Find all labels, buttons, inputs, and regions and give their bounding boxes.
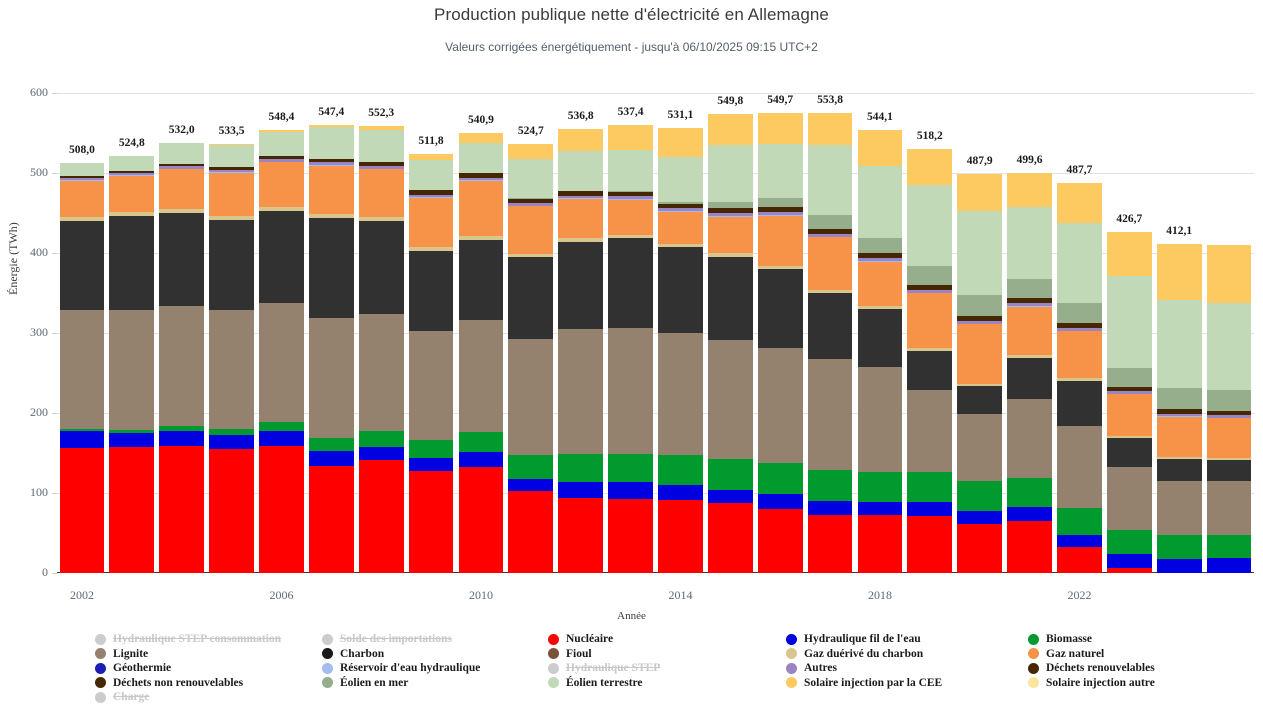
bar-segment[interactable] <box>1207 481 1252 535</box>
legend-item[interactable]: Charge <box>95 690 281 705</box>
bar-segment[interactable] <box>957 524 1002 573</box>
bar-total-label: 533,5 <box>209 125 254 137</box>
bar-segment[interactable] <box>1157 417 1202 457</box>
bar-segment[interactable] <box>558 129 603 150</box>
legend-column: Hydraulique STEP consommationLigniteGéot… <box>95 632 281 705</box>
bar-segment[interactable] <box>1107 394 1152 436</box>
y-axis-tickmark <box>52 333 57 334</box>
bar-segment[interactable] <box>758 144 803 198</box>
bar-segment[interactable] <box>359 447 404 461</box>
bar-segment[interactable] <box>109 433 154 447</box>
legend-item[interactable]: Hydraulique STEP consommation <box>95 632 281 647</box>
bar-segment[interactable] <box>1107 276 1152 368</box>
bar-segment[interactable] <box>808 237 853 290</box>
bar-segment[interactable] <box>758 216 803 266</box>
legend-item-label: Nucléaire <box>566 633 613 645</box>
bar-segment[interactable] <box>608 238 653 328</box>
bar-segment[interactable] <box>508 479 553 491</box>
legend-color-swatch-icon <box>786 663 797 674</box>
bar-segment[interactable] <box>259 446 304 573</box>
bar-segment[interactable] <box>708 145 753 202</box>
bar-2014[interactable] <box>658 128 703 573</box>
bar-segment[interactable] <box>1007 307 1052 356</box>
bar-segment[interactable] <box>359 130 404 162</box>
bar-segment[interactable] <box>359 460 404 573</box>
bar-segment[interactable] <box>1157 559 1202 573</box>
bar-segment[interactable] <box>1207 558 1252 573</box>
bar-segment[interactable] <box>957 414 1002 481</box>
legend-color-swatch-icon <box>786 648 797 659</box>
bar-segment[interactable] <box>259 211 304 303</box>
bar-segment[interactable] <box>558 199 603 238</box>
bar-2003[interactable] <box>109 156 154 573</box>
bar-segment[interactable] <box>60 448 105 573</box>
y-axis-tick-label: 300 <box>0 325 48 340</box>
legend-item[interactable]: Éolien en mer <box>322 676 480 691</box>
bar-segment[interactable] <box>758 509 803 573</box>
x-axis-tick-label: 2014 <box>650 588 710 603</box>
bar-segment[interactable] <box>1007 399 1052 478</box>
bar-segment[interactable] <box>409 458 454 471</box>
bar-segment[interactable] <box>1057 381 1102 425</box>
bar-segment[interactable] <box>1157 388 1202 409</box>
bar-segment[interactable] <box>159 169 204 209</box>
bar-segment[interactable] <box>858 515 903 573</box>
bar-segment[interactable] <box>359 169 404 217</box>
bar-segment[interactable] <box>808 145 853 215</box>
y-axis-tickmark <box>52 253 57 254</box>
bar-segment[interactable] <box>957 211 1002 295</box>
bar-segment[interactable] <box>708 340 753 459</box>
bar-segment[interactable] <box>459 181 504 236</box>
bar-segment[interactable] <box>259 303 304 422</box>
legend-column: Hydraulique fil de l'eauGaz duérivé du c… <box>786 632 942 690</box>
legend-color-swatch-icon <box>322 663 333 674</box>
bar-segment[interactable] <box>608 200 653 235</box>
bar-segment[interactable] <box>658 212 703 244</box>
legend-color-swatch-icon <box>786 677 797 688</box>
bar-segment[interactable] <box>858 502 903 515</box>
bar-segment[interactable] <box>1107 530 1152 554</box>
legend-item-label: Hydraulique STEP <box>566 662 660 674</box>
bar-segment[interactable] <box>259 422 304 432</box>
bar-segment[interactable] <box>109 447 154 573</box>
legend-item[interactable]: Autres <box>786 661 942 676</box>
bar-segment[interactable] <box>459 452 504 467</box>
bar-segment[interactable] <box>957 324 1002 383</box>
legend-item-label: Géothermie <box>113 662 171 674</box>
legend-item[interactable]: Solde des importations <box>322 632 480 647</box>
legend-color-swatch-icon <box>322 677 333 688</box>
bar-segment[interactable] <box>1007 478 1052 507</box>
bar-segment[interactable] <box>957 481 1002 511</box>
bar-segment[interactable] <box>60 221 105 311</box>
legend-item-label: Solde des importations <box>340 633 452 645</box>
chart-container: Production publique nette d'électricité … <box>0 0 1263 706</box>
bar-2016[interactable] <box>758 113 803 573</box>
legend-color-swatch-icon <box>322 634 333 645</box>
bar-segment[interactable] <box>459 320 504 432</box>
bar-segment[interactable] <box>309 451 354 467</box>
bar-segment[interactable] <box>508 491 553 573</box>
bar-segment[interactable] <box>608 150 653 191</box>
bar-segment[interactable] <box>1057 547 1102 573</box>
bar-segment[interactable] <box>858 309 903 367</box>
legend-item-label: Éolien terrestre <box>566 677 643 689</box>
bar-segment[interactable] <box>508 144 553 159</box>
legend-item-label: Autres <box>804 662 837 674</box>
legend-item[interactable]: Réservoir d'eau hydraulique <box>322 661 480 676</box>
bar-segment[interactable] <box>808 293 853 359</box>
y-axis-tick-label: 600 <box>0 85 48 100</box>
legend-item[interactable]: Lignite <box>95 647 281 662</box>
bar-segment[interactable] <box>409 331 454 439</box>
bar-segment[interactable] <box>1007 358 1052 399</box>
bar-total-label: 548,4 <box>259 111 304 123</box>
bar-segment[interactable] <box>109 156 154 171</box>
legend-item-label: Hydraulique fil de l'eau <box>804 633 921 645</box>
bar-segment[interactable] <box>1157 535 1202 559</box>
bar-segment[interactable] <box>758 198 803 208</box>
bar-segment[interactable] <box>907 516 952 573</box>
bar-total-label: 553,8 <box>808 94 853 106</box>
bar-segment[interactable] <box>209 145 254 167</box>
bar-2015[interactable] <box>708 114 753 573</box>
x-axis-tick-label: 2006 <box>251 588 311 603</box>
bar-segment[interactable] <box>209 449 254 573</box>
bar-segment[interactable] <box>1107 554 1152 567</box>
bar-segment[interactable] <box>259 431 304 446</box>
bar-segment[interactable] <box>808 470 853 501</box>
bar-segment[interactable] <box>459 240 504 320</box>
legend-color-swatch-icon <box>548 663 559 674</box>
bar-segment[interactable] <box>758 494 803 509</box>
bar-segment[interactable] <box>907 472 952 502</box>
bar-segment[interactable] <box>309 166 354 215</box>
bar-segment[interactable] <box>409 440 454 458</box>
legend-item[interactable]: Déchets non renouvelables <box>95 676 281 691</box>
bar-2008[interactable] <box>359 126 404 573</box>
y-axis-tick-label: 400 <box>0 245 48 260</box>
bar-segment[interactable] <box>1007 173 1052 207</box>
bar-segment[interactable] <box>1107 467 1152 530</box>
legend-color-swatch-icon <box>1028 663 1039 674</box>
bar-segment[interactable] <box>60 163 105 176</box>
bar-total-label: 518,2 <box>907 130 952 142</box>
bar-segment[interactable] <box>708 114 753 145</box>
bar-segment[interactable] <box>658 247 703 333</box>
bar-segment[interactable] <box>858 472 903 502</box>
legend-color-swatch-icon <box>1028 634 1039 645</box>
bar-segment[interactable] <box>1207 460 1252 482</box>
bar-segment[interactable] <box>309 218 354 317</box>
bar-segment[interactable] <box>957 386 1002 414</box>
bar-total-label: 549,8 <box>708 95 753 107</box>
bar-segment[interactable] <box>209 220 254 310</box>
bar-segment[interactable] <box>758 348 803 463</box>
legend-column: NucléaireFioulHydraulique STEPÉolien ter… <box>548 632 660 690</box>
bar-2006[interactable] <box>259 130 304 573</box>
x-axis-tick-label: 2002 <box>52 588 112 603</box>
bar-segment[interactable] <box>658 500 703 573</box>
bar-segment[interactable] <box>359 314 404 431</box>
bar-2012[interactable] <box>558 129 603 573</box>
bar-segment[interactable] <box>1207 418 1252 457</box>
bar-total-label: 487,9 <box>957 155 1002 167</box>
bar-2020[interactable] <box>957 174 1002 573</box>
bar-segment[interactable] <box>459 432 504 452</box>
legend-color-swatch-icon <box>322 648 333 659</box>
bar-segment[interactable] <box>159 143 204 163</box>
bar-segment[interactable] <box>259 132 304 156</box>
legend-color-swatch-icon <box>1028 648 1039 659</box>
bar-segment[interactable] <box>60 431 105 448</box>
bar-segment[interactable] <box>758 113 803 143</box>
bar-segment[interactable] <box>608 482 653 499</box>
legend-color-swatch-icon <box>95 692 106 703</box>
legend-item[interactable]: Nucléaire <box>548 632 660 647</box>
bar-segment[interactable] <box>708 459 753 490</box>
bar-segment[interactable] <box>508 339 553 455</box>
legend-color-swatch-icon <box>95 634 106 645</box>
legend-item[interactable]: Solaire injection autre <box>1028 676 1155 691</box>
bar-segment[interactable] <box>808 515 853 573</box>
bar-segment[interactable] <box>1207 303 1252 390</box>
bar-segment[interactable] <box>409 251 454 331</box>
bar-2017[interactable] <box>808 113 853 573</box>
bar-segment[interactable] <box>1007 507 1052 521</box>
bar-segment[interactable] <box>658 485 703 500</box>
y-axis-tick-label: 100 <box>0 485 48 500</box>
bar-segment[interactable] <box>558 151 603 191</box>
bar-2024[interactable] <box>1157 244 1202 573</box>
bar-segment[interactable] <box>409 198 454 248</box>
bar-segment[interactable] <box>359 221 404 314</box>
bar-segment[interactable] <box>658 455 703 485</box>
bar-segment[interactable] <box>608 499 653 573</box>
bar-segment[interactable] <box>558 482 603 497</box>
legend-item[interactable]: Solaire injection par la CEE <box>786 676 942 691</box>
bar-segment[interactable] <box>1007 279 1052 298</box>
bar-2023[interactable] <box>1107 232 1152 573</box>
legend-item[interactable]: Hydraulique fil de l'eau <box>786 632 942 647</box>
y-axis-tickmark <box>52 173 57 174</box>
bar-segment[interactable] <box>1007 207 1052 279</box>
bar-segment[interactable] <box>109 176 154 212</box>
bar-2010[interactable] <box>459 133 504 573</box>
bar-segment[interactable] <box>60 310 105 428</box>
bar-segment[interactable] <box>858 367 903 472</box>
bar-segment[interactable] <box>159 446 204 573</box>
bar-segment[interactable] <box>907 266 952 286</box>
bar-2002[interactable] <box>60 163 105 573</box>
bar-2007[interactable] <box>309 125 354 573</box>
bar-segment[interactable] <box>1157 481 1202 535</box>
bar-segment[interactable] <box>907 293 952 347</box>
bar-total-label: 547,4 <box>309 106 354 118</box>
y-axis-tickmark <box>52 573 57 574</box>
legend-item-label: Charbon <box>340 648 384 660</box>
bar-segment[interactable] <box>1157 300 1202 388</box>
bar-total-label: 536,8 <box>558 110 603 122</box>
bar-segment[interactable] <box>1207 390 1252 411</box>
bar-segment[interactable] <box>309 318 354 438</box>
bar-2018[interactable] <box>858 130 903 573</box>
legend-column: BiomasseGaz naturelDéchets renouvelables… <box>1028 632 1155 690</box>
bar-segment[interactable] <box>708 490 753 503</box>
bar-segment[interactable] <box>209 429 254 436</box>
legend-color-swatch-icon <box>548 648 559 659</box>
bar-segment[interactable] <box>508 257 553 339</box>
bar-segment[interactable] <box>907 185 952 266</box>
bar-segment[interactable] <box>758 463 803 494</box>
bar-segment[interactable] <box>808 359 853 470</box>
bar-segment[interactable] <box>808 501 853 516</box>
bar-segment[interactable] <box>858 238 903 253</box>
bar-2013[interactable] <box>608 125 653 573</box>
bar-segment[interactable] <box>1107 568 1152 573</box>
bar-segment[interactable] <box>658 128 703 157</box>
bar-segment[interactable] <box>1107 232 1152 277</box>
legend-item[interactable]: Biomasse <box>1028 632 1155 647</box>
bar-segment[interactable] <box>808 113 853 144</box>
bar-segment[interactable] <box>459 467 504 573</box>
bar-segment[interactable] <box>1057 535 1102 547</box>
bar-segment[interactable] <box>957 295 1002 316</box>
legend-item-label: Biomasse <box>1046 633 1092 645</box>
bar-segment[interactable] <box>1207 535 1252 558</box>
bar-segment[interactable] <box>309 127 354 159</box>
bar-segment[interactable] <box>858 262 903 307</box>
bar-segment[interactable] <box>558 329 603 454</box>
bar-segment[interactable] <box>608 328 653 453</box>
bar-segment[interactable] <box>459 143 504 173</box>
legend-item-label: Déchets non renouvelables <box>113 677 243 689</box>
bar-segment[interactable] <box>109 310 154 430</box>
bar-total-label: 540,9 <box>459 114 504 126</box>
plot-area: 0100200300400500600508,0524,8532,0533,55… <box>57 93 1254 573</box>
bar-segment[interactable] <box>558 498 603 573</box>
x-axis-tick-label: 2022 <box>1049 588 1109 603</box>
bar-segment[interactable] <box>508 455 553 479</box>
bar-segment[interactable] <box>508 159 553 198</box>
bar-segment[interactable] <box>109 216 154 310</box>
bar-segment[interactable] <box>1057 426 1102 509</box>
bar-total-label: 499,6 <box>1007 154 1052 166</box>
bar-segment[interactable] <box>858 130 903 166</box>
bar-segment[interactable] <box>708 257 753 340</box>
bar-segment[interactable] <box>708 503 753 573</box>
bar-segment[interactable] <box>907 390 952 472</box>
bar-segment[interactable] <box>608 125 653 150</box>
legend-item[interactable]: Géothermie <box>95 661 281 676</box>
bar-2025[interactable] <box>1207 245 1252 573</box>
bar-total-label: 511,8 <box>409 135 454 147</box>
bar-total-label: 537,4 <box>608 106 653 118</box>
bar-segment[interactable] <box>1107 368 1152 386</box>
bar-segment[interactable] <box>1057 331 1102 378</box>
bar-segment[interactable] <box>1207 245 1252 303</box>
bar-segment[interactable] <box>259 162 304 207</box>
bar-segment[interactable] <box>558 454 603 482</box>
bar-segment[interactable] <box>1057 303 1102 323</box>
bar-segment[interactable] <box>309 466 354 573</box>
legend-item-label: Lignite <box>113 648 148 660</box>
bar-segment[interactable] <box>957 511 1002 524</box>
bar-segment[interactable] <box>1157 459 1202 481</box>
bar-segment[interactable] <box>1057 223 1102 303</box>
bar-total-label: 487,7 <box>1057 164 1102 176</box>
bar-segment[interactable] <box>858 166 903 238</box>
bar-segment[interactable] <box>907 502 952 516</box>
bar-2021[interactable] <box>1007 173 1052 573</box>
bar-segment[interactable] <box>60 181 105 217</box>
bar-segment[interactable] <box>459 133 504 142</box>
bar-segment[interactable] <box>1157 244 1202 300</box>
bar-segment[interactable] <box>508 206 553 253</box>
bar-segment[interactable] <box>1107 438 1152 467</box>
bar-total-label: 508,0 <box>60 144 105 156</box>
bar-2019[interactable] <box>907 149 952 573</box>
bar-segment[interactable] <box>159 306 204 426</box>
legend-item[interactable]: Hydraulique STEP <box>548 661 660 676</box>
x-axis-tick-label: 2010 <box>451 588 511 603</box>
y-axis-tick-label: 0 <box>0 565 48 580</box>
bar-2011[interactable] <box>508 144 553 573</box>
bar-segment[interactable] <box>159 431 204 446</box>
bar-segment[interactable] <box>409 471 454 573</box>
x-axis-tick-label: 2018 <box>850 588 910 603</box>
legend-item-label: Déchets renouvelables <box>1046 662 1155 674</box>
legend-item-label: Éolien en mer <box>340 677 408 689</box>
legend-item[interactable]: Gaz naturel <box>1028 647 1155 662</box>
bar-segment[interactable] <box>309 438 354 451</box>
legend-item[interactable]: Charbon <box>322 647 480 662</box>
bar-segment[interactable] <box>209 173 254 215</box>
bar-2005[interactable] <box>209 144 254 573</box>
legend-item[interactable]: Fioul <box>548 647 660 662</box>
bar-segment[interactable] <box>907 149 952 185</box>
bar-segment[interactable] <box>558 242 603 329</box>
bar-segment[interactable] <box>608 454 653 483</box>
legend-item[interactable]: Éolien terrestre <box>548 676 660 691</box>
legend-color-swatch-icon <box>95 648 106 659</box>
bar-segment[interactable] <box>658 333 703 455</box>
bar-segment[interactable] <box>658 157 703 203</box>
bar-segment[interactable] <box>1057 508 1102 535</box>
bar-segment[interactable] <box>1057 183 1102 223</box>
bar-segment[interactable] <box>209 435 254 449</box>
legend-item[interactable]: Déchets renouvelables <box>1028 661 1155 676</box>
y-axis-tickmark <box>52 413 57 414</box>
bar-segment[interactable] <box>159 213 204 306</box>
bar-segment[interactable] <box>1007 521 1052 573</box>
bar-2022[interactable] <box>1057 183 1102 573</box>
bar-2009[interactable] <box>409 154 454 573</box>
bar-2004[interactable] <box>159 143 204 573</box>
bar-segment[interactable] <box>957 174 1002 211</box>
bar-segment[interactable] <box>209 310 254 429</box>
bar-segment[interactable] <box>359 431 404 447</box>
bar-segment[interactable] <box>907 351 952 391</box>
bar-segment[interactable] <box>808 215 853 229</box>
bar-segment[interactable] <box>758 269 803 347</box>
gridline <box>57 93 1254 94</box>
legend-item-label: Charge <box>113 691 149 703</box>
bar-segment[interactable] <box>708 217 753 254</box>
bar-segment[interactable] <box>409 160 454 191</box>
legend-item[interactable]: Gaz duérivé du charbon <box>786 647 942 662</box>
